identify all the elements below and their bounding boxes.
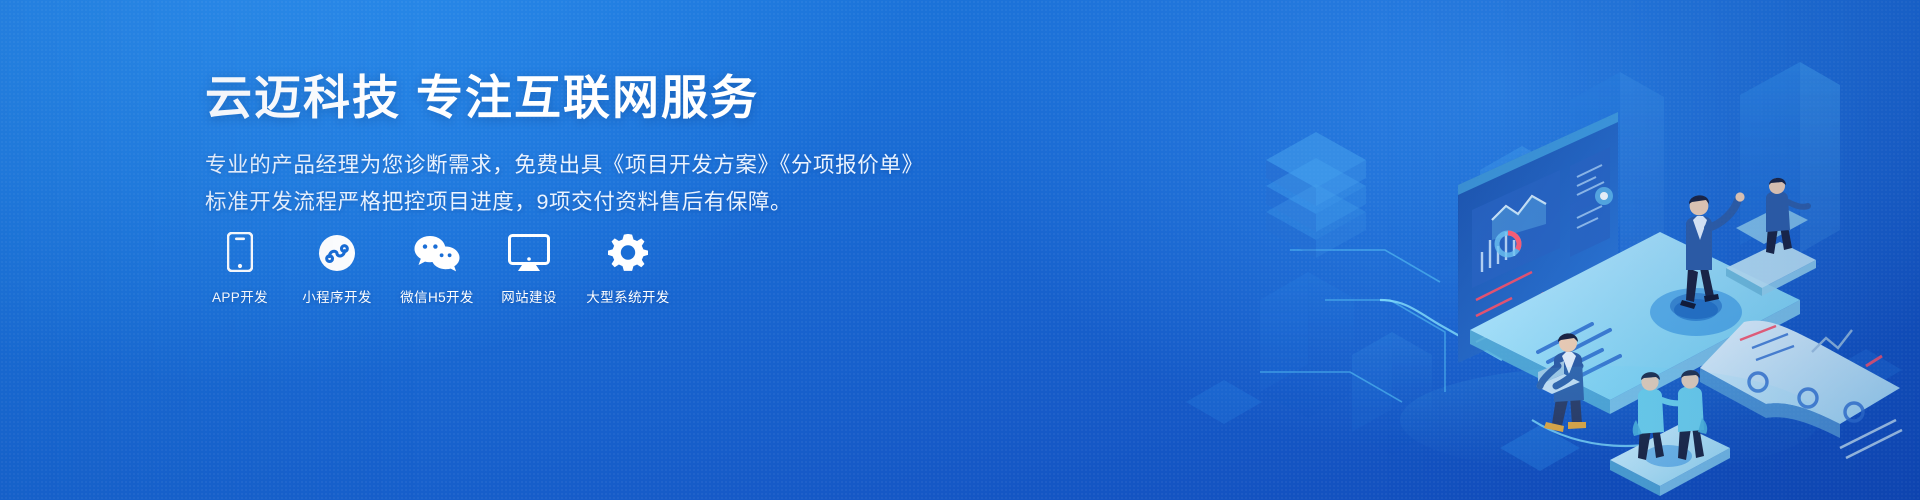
page-title: 云迈科技 专注互联网服务: [205, 72, 965, 125]
service-label: 小程序开发: [302, 286, 372, 306]
hero-copy: 云迈科技 专注互联网服务 专业的产品经理为您诊断需求，免费出具《项目开发方案》《…: [205, 72, 965, 221]
service-item-large-system[interactable]: 大型系统开发: [583, 230, 673, 306]
hero-illustration: [1140, 0, 1920, 500]
service-list: APP开发 小程序开发: [205, 230, 673, 306]
service-label: 大型系统开发: [586, 286, 669, 306]
service-item-app[interactable]: APP开发: [205, 230, 275, 306]
monitor-icon: [493, 230, 565, 272]
service-item-mini-program[interactable]: 小程序开发: [295, 230, 379, 306]
mini-program-icon: [295, 230, 379, 272]
subtitle-line-1: 专业的产品经理为您诊断需求，免费出具《项目开发方案》《分项报价单》: [205, 147, 965, 184]
mobile-phone-icon: [205, 230, 275, 272]
gear-icon: [583, 230, 673, 272]
subtitle-line-2: 标准开发流程严格把控项目进度，9项交付资料售后有保障。: [205, 184, 965, 221]
service-item-website[interactable]: 网站建设: [493, 230, 565, 306]
service-item-wechat-h5[interactable]: 微信H5开发: [391, 230, 483, 306]
server-stack: [1266, 132, 1366, 258]
service-label: 网站建设: [501, 286, 557, 306]
wechat-icon: [391, 230, 483, 272]
service-label: 微信H5开发: [400, 286, 474, 306]
service-label: APP开发: [212, 286, 268, 306]
hero-banner: 云迈科技 专注互联网服务 专业的产品经理为您诊断需求，免费出具《项目开发方案》《…: [0, 0, 1920, 500]
